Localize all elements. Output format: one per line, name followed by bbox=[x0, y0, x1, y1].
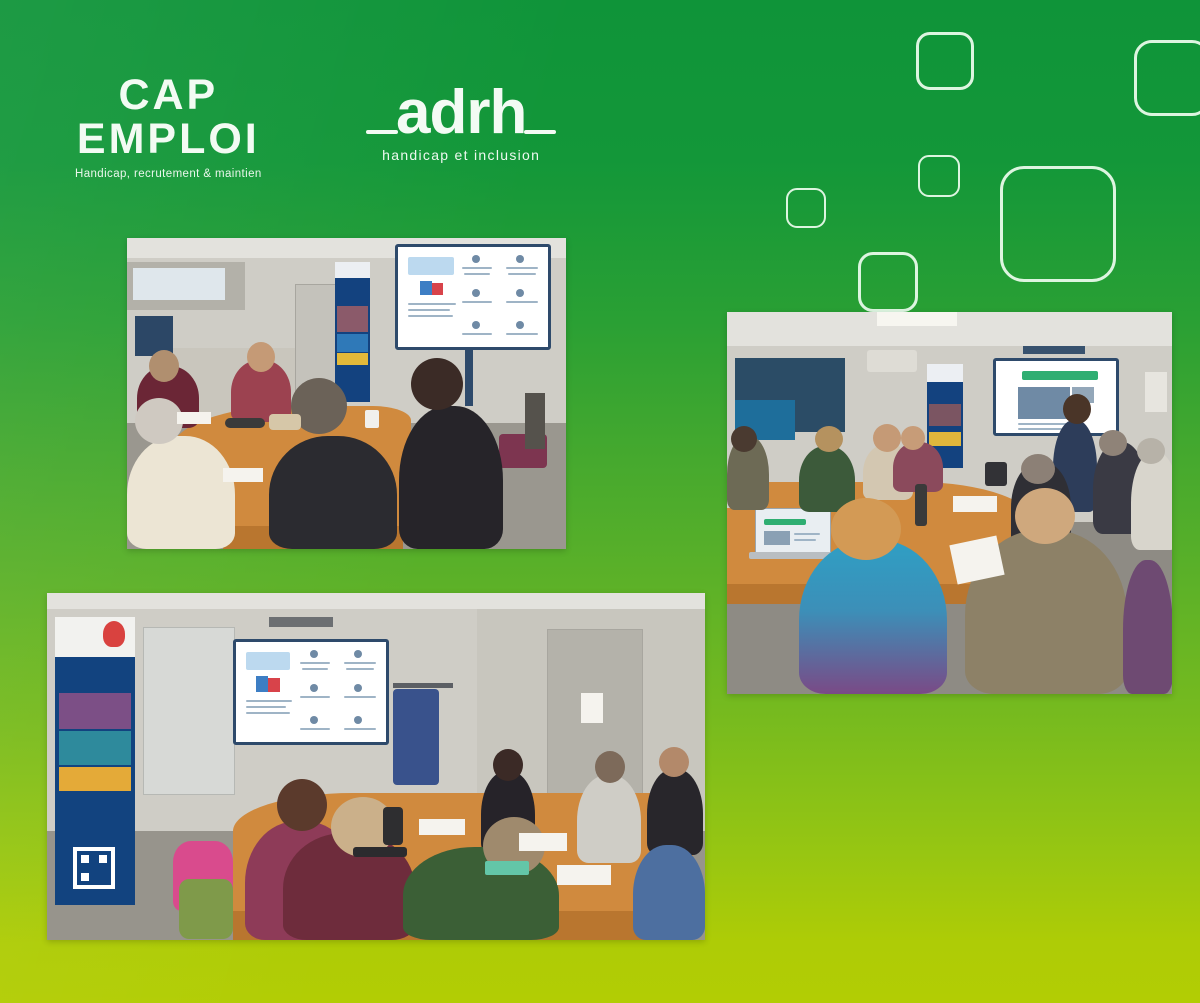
photo-1-presentation-screen bbox=[395, 244, 551, 350]
cap-emploi-line1: CAP bbox=[75, 74, 262, 117]
photo-3-scene bbox=[47, 593, 705, 940]
cap-emploi-line2: EMPLOI bbox=[75, 117, 262, 162]
adrh-rule-right-icon bbox=[524, 130, 556, 134]
decor-square-5 bbox=[786, 188, 826, 228]
photo-1-scene bbox=[127, 238, 566, 549]
adrh-logo: adrh handicap et inclusion bbox=[378, 84, 544, 163]
photo-meeting-room-2 bbox=[727, 312, 1172, 694]
adrh-rule-left-icon bbox=[366, 130, 398, 134]
photo-meeting-room-1 bbox=[127, 238, 566, 549]
adrh-wordmark-text: adrh bbox=[396, 78, 526, 147]
photo-3-presentation-screen bbox=[233, 639, 389, 745]
photo-2-presentation-screen bbox=[993, 358, 1119, 436]
photo-2-scene bbox=[727, 312, 1172, 694]
cap-emploi-logo: CAP EMPLOI Handicap, recrutement & maint… bbox=[75, 74, 262, 180]
cap-emploi-tagline: Handicap, recrutement & maintien bbox=[75, 168, 262, 180]
decor-square-2 bbox=[1134, 40, 1200, 116]
adrh-wordmark: adrh bbox=[378, 84, 544, 143]
decor-square-3 bbox=[1000, 166, 1116, 282]
decor-square-1 bbox=[916, 32, 974, 90]
photo-2-foreground-blue-sweater bbox=[799, 540, 947, 694]
logo-bar: CAP EMPLOI Handicap, recrutement & maint… bbox=[0, 68, 640, 188]
decor-square-4 bbox=[918, 155, 960, 197]
adrh-tagline: handicap et inclusion bbox=[378, 147, 544, 163]
photo-meeting-room-3 bbox=[47, 593, 705, 940]
decor-square-6 bbox=[858, 252, 918, 312]
photo-2-laptop bbox=[755, 508, 831, 556]
